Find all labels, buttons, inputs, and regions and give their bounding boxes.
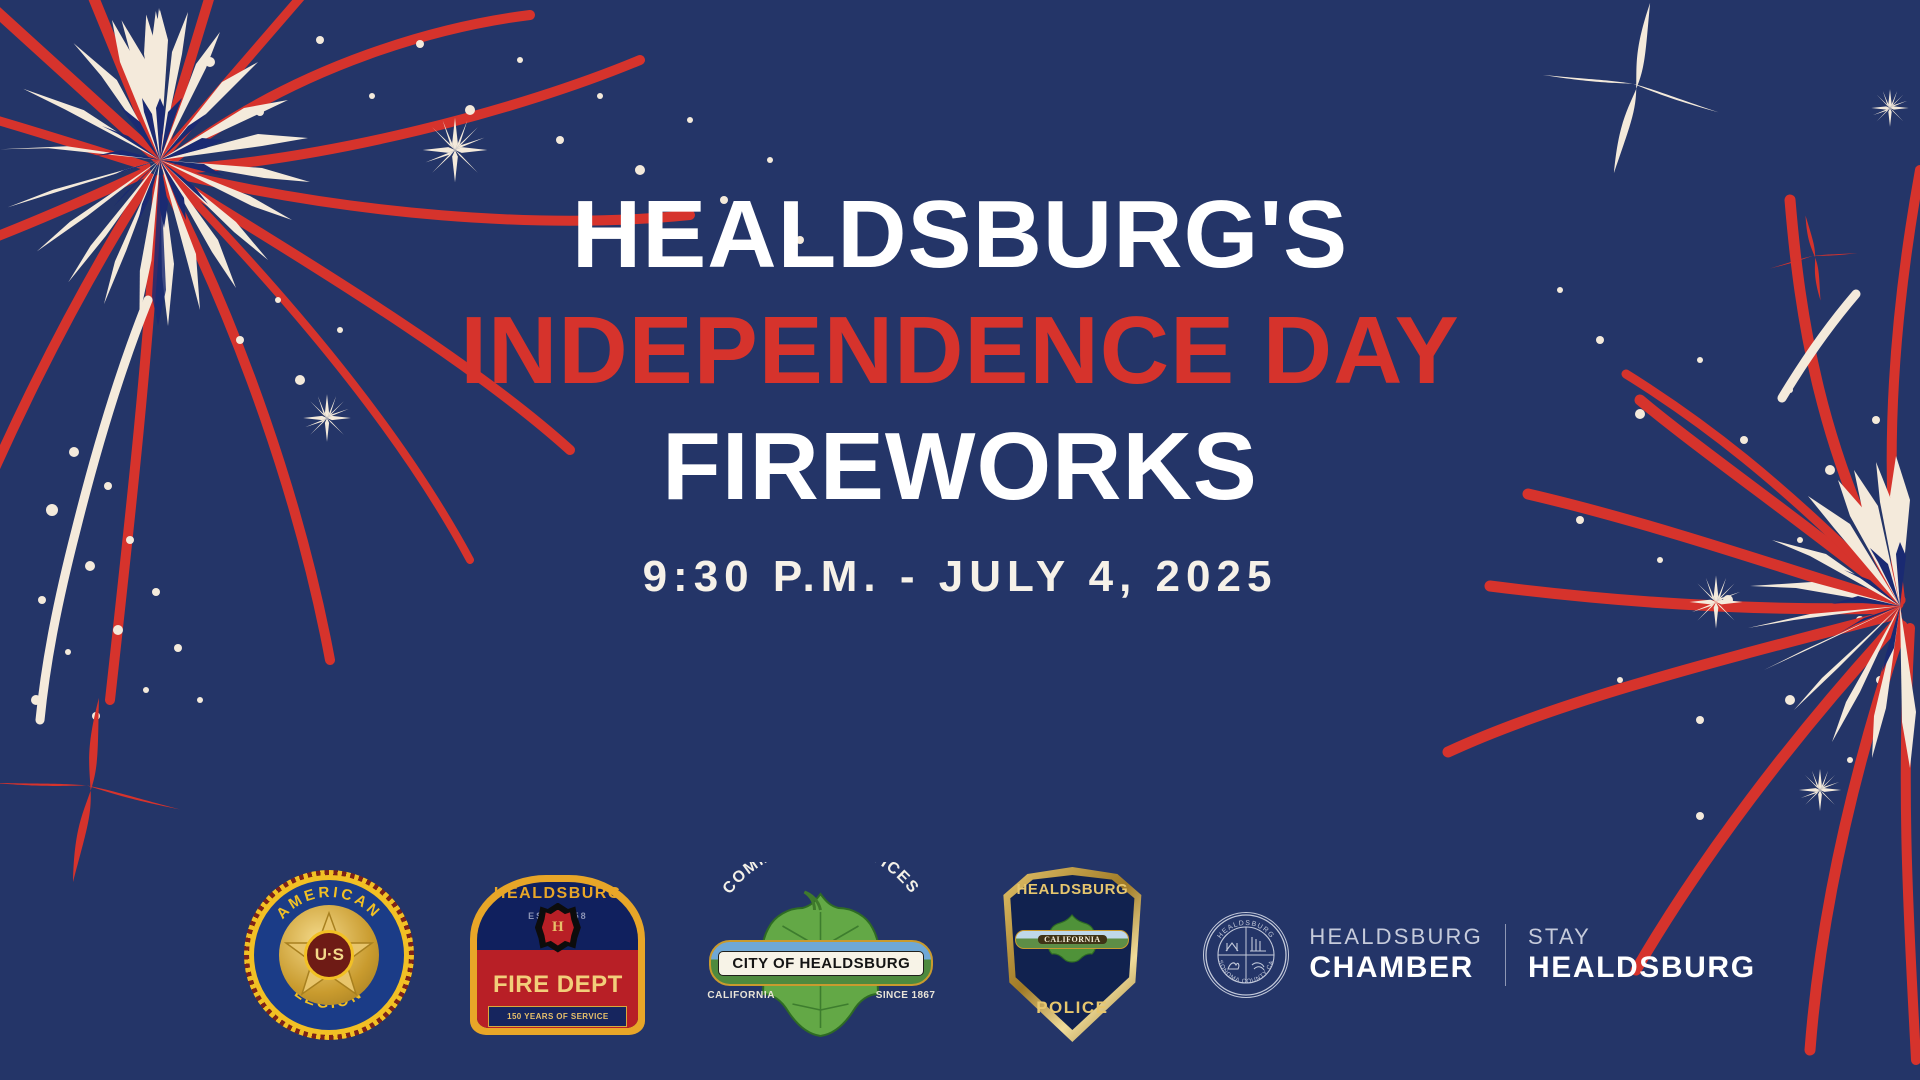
- chamber-word-big-1: CHAMBER: [1309, 953, 1483, 983]
- fire-monogram: H: [542, 910, 574, 946]
- headline-line-1: HEALDSBURG'S: [0, 186, 1920, 284]
- chamber-word-big-2: HEALDSBURG: [1528, 953, 1756, 983]
- sparkle-4: [1799, 769, 1841, 811]
- police-top-label: HEALDSBURG: [997, 881, 1147, 898]
- stay-healdsburg-wordmark: STAY HEALDSBURG: [1528, 926, 1756, 983]
- sparkle-5: [1871, 89, 1908, 126]
- poster-canvas: HEALDSBURG'S INDEPENDENCE DAY FIREWORKS …: [0, 0, 1920, 1080]
- logo-healdsburg-fire-department: HEALDSBURG EST. 1858 H FIRE DEPT 150 YEA…: [470, 875, 645, 1035]
- legion-center-text: U·S: [304, 930, 354, 980]
- chamber-divider: [1505, 924, 1506, 986]
- logo-healdsburg-chamber: HEALDSBURG SONOMA COUNTY CA HEALDSBURG C…: [1203, 912, 1755, 998]
- logo-healdsburg-police: HEALDSBURG CALIFORNIA POLICE: [997, 867, 1147, 1042]
- headline-line-2: INDEPENDENCE DAY: [0, 302, 1920, 400]
- chamber-word-small-2: STAY: [1528, 926, 1756, 948]
- police-state-label: CALIFORNIA: [1038, 935, 1107, 944]
- fire-title: FIRE DEPT: [470, 971, 645, 999]
- headline-line-3: FIREWORKS: [0, 418, 1920, 516]
- logo-american-legion: AMERICAN LEGION U·S: [244, 870, 414, 1040]
- sponsor-logo-row: AMERICAN LEGION U·S HEAL: [0, 847, 1920, 1062]
- police-landscape-bar: CALIFORNIA: [1015, 930, 1129, 949]
- city-since-label: SINCE 1867: [876, 990, 936, 1001]
- headline-block: HEALDSBURG'S INDEPENDENCE DAY FIREWORKS …: [0, 186, 1920, 602]
- city-landscape-band: CITY OF HEALDSBURG: [709, 940, 933, 986]
- fire-maltese-cross-icon: H: [535, 903, 581, 953]
- fire-ribbon-text: 150 YEARS OF SERVICE: [488, 1006, 627, 1027]
- sparkle-1: [423, 118, 488, 183]
- police-bottom-label: POLICE: [997, 998, 1147, 1018]
- star-top-right-cream: [1526, 0, 1738, 192]
- fire-top-text: HEALDSBURG: [470, 885, 645, 903]
- logo-city-of-healdsburg: COMMUNITY SERVICES CITY OF HEALDSBURG CA…: [701, 862, 941, 1047]
- chamber-word-small-1: HEALDSBURG: [1309, 926, 1483, 948]
- chamber-seal-icon: HEALDSBURG SONOMA COUNTY CA: [1203, 912, 1289, 998]
- city-plaque-label: CITY OF HEALDSBURG: [718, 951, 924, 976]
- chamber-seal-svg: HEALDSBURG SONOMA COUNTY CA: [1204, 913, 1288, 997]
- event-dateline: 9:30 P.M. - JULY 4, 2025: [0, 552, 1920, 602]
- chamber-wordmark: HEALDSBURG CHAMBER: [1309, 926, 1483, 983]
- city-state-label: CALIFORNIA: [707, 990, 775, 1001]
